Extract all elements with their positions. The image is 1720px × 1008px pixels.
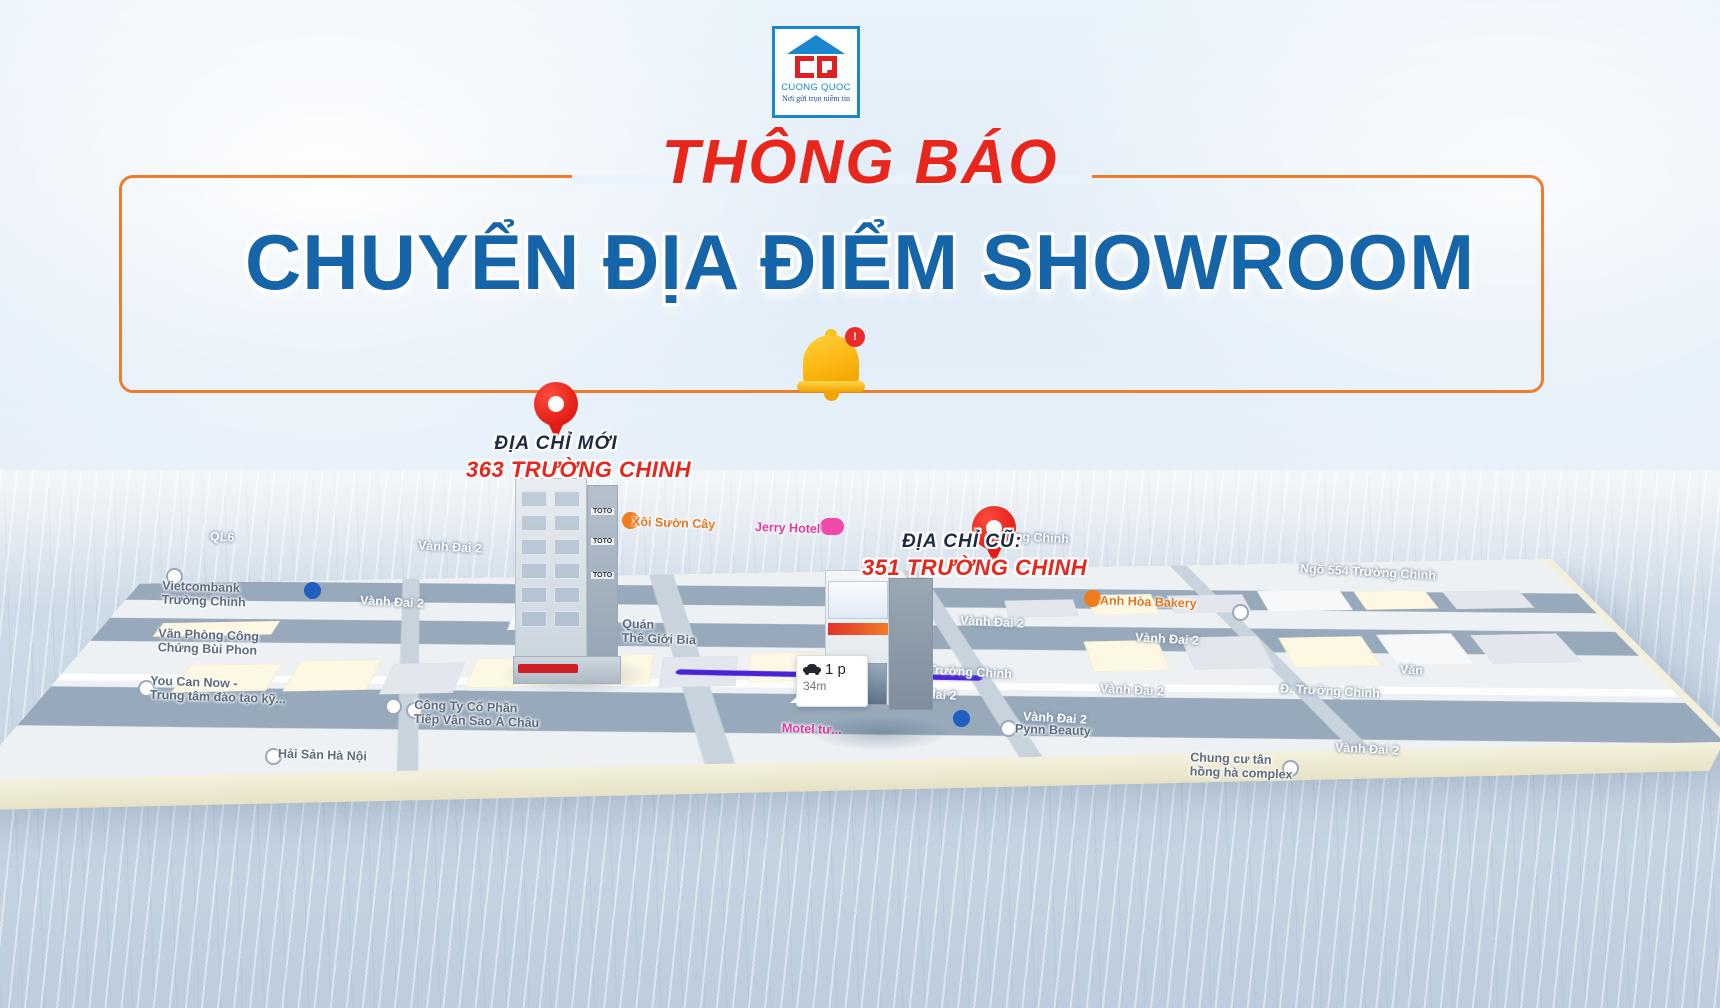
map-label: QL6 bbox=[210, 529, 235, 544]
old-address-street: 351 TRƯỜNG CHINH bbox=[862, 554, 1062, 582]
map-label: Xôi Sườn Cây bbox=[632, 515, 716, 532]
old-address-title: ĐỊA CHỈ CŨ: bbox=[862, 530, 1062, 554]
bell-icon: ! bbox=[795, 325, 867, 403]
map-label: You Can Now -Trung tâm đào tạo kỹ... bbox=[150, 674, 287, 707]
map-poi-hotel[interactable] bbox=[820, 518, 844, 535]
route-distance: 34m bbox=[803, 679, 861, 693]
map-label: VietcombankTrường Chinh bbox=[162, 579, 247, 610]
new-address-title: ĐỊA CHỈ MỚI bbox=[466, 432, 646, 456]
map-label: Công Ty Cổ PhầnTiếp Vận Sao Á Châu bbox=[414, 698, 540, 730]
old-address-label: ĐỊA CHỈ CŨ: 351 TRƯỜNG CHINH bbox=[862, 530, 1062, 581]
map-label: Jerry Hotel bbox=[755, 520, 821, 536]
bell-badge: ! bbox=[845, 327, 865, 347]
car-icon bbox=[803, 664, 821, 675]
map-label: Văn Phòng CôngChứng Bùi Phon bbox=[158, 626, 260, 657]
poster-canvas: CUONG QUOC Nơi gửi trọn niềm tin THÔNG B… bbox=[0, 0, 1720, 1008]
route-duration: 1 p bbox=[825, 661, 846, 678]
logo-tagline: Nơi gửi trọn niềm tin bbox=[782, 94, 850, 103]
route-info-badge[interactable]: 1 p 34m bbox=[796, 655, 868, 707]
announcement-kicker: THÔNG BÁO bbox=[0, 132, 1720, 194]
house-roof-icon bbox=[787, 35, 845, 54]
cq-monogram-icon bbox=[795, 56, 837, 78]
map-poi-vietcombank[interactable] bbox=[304, 582, 321, 599]
map-label: Chung cư tânhồng hà complex bbox=[1190, 750, 1294, 782]
map-poi-bakery[interactable] bbox=[1084, 590, 1101, 607]
map-poi-dot[interactable] bbox=[953, 710, 970, 727]
map-label: Pynn Beauty bbox=[1015, 722, 1091, 739]
map-label: Văn bbox=[1400, 662, 1424, 677]
company-logo: CUONG QUOC Nơi gửi trọn niềm tin bbox=[772, 26, 860, 118]
new-address-label: ĐỊA CHỈ MỚI 363 TRƯỜNG CHINH bbox=[466, 432, 646, 483]
map-poi-dot[interactable] bbox=[385, 698, 402, 715]
new-showroom-building[interactable]: TOTO TOTO TOTO bbox=[515, 478, 620, 683]
map-poi-dot[interactable] bbox=[1232, 604, 1249, 621]
map-label: QuánThế Giới Bia bbox=[622, 617, 697, 648]
announcement-headline: CHUYỂN ĐỊA ĐIỂM SHOWROOM bbox=[0, 223, 1720, 301]
new-address-street: 363 TRƯỜNG CHINH bbox=[466, 456, 646, 484]
logo-company-name: CUONG QUOC bbox=[781, 82, 851, 93]
